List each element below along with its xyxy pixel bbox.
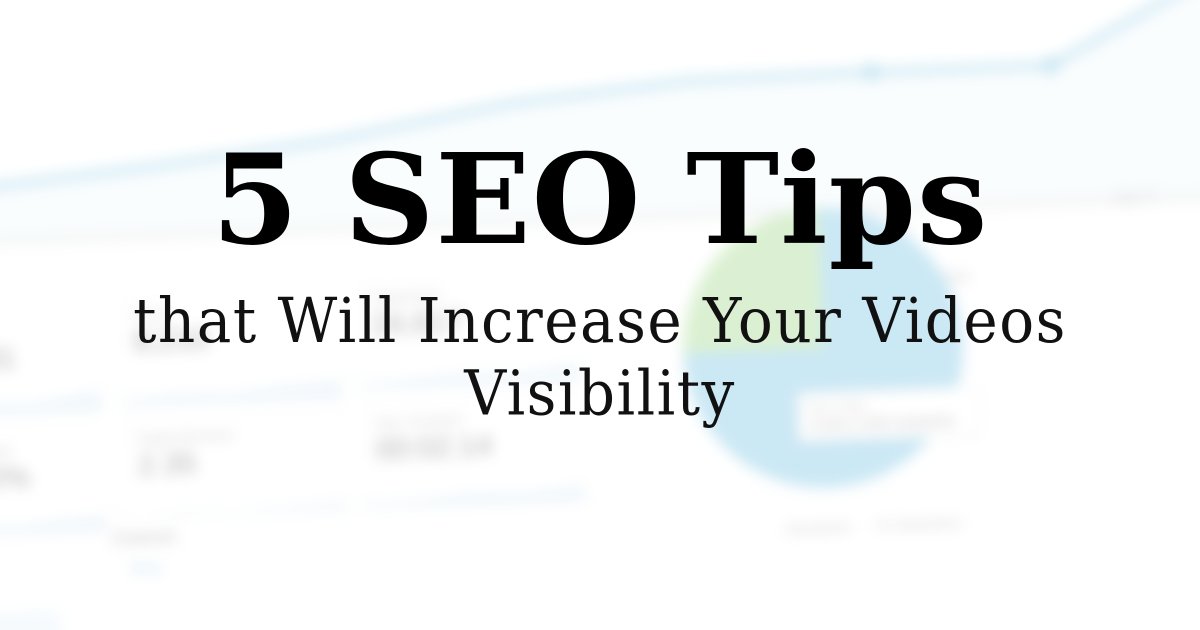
sessions-area-chart xyxy=(0,0,1200,253)
axis-tick-oct7: Oct 7 xyxy=(1114,188,1156,210)
metric-value: 8,210 xyxy=(133,318,328,359)
column-header-percent-sessions: % Sessions xyxy=(876,515,960,536)
metric-card: Users 8,210 xyxy=(119,288,343,408)
visitor-type-pie-chart: New Visitor 74.8% (7,842 sessions) xyxy=(672,197,975,500)
column-header-sessions: Sessions xyxy=(786,519,852,539)
pie-tooltip: New Visitor 74.8% (7,842 sessions) xyxy=(797,386,981,442)
metric-value: 41.82% xyxy=(0,459,93,499)
metric-card: Pageviews 24,617 xyxy=(356,271,580,391)
metric-sparkline xyxy=(123,373,342,407)
metric-card: Sessions 10,481 xyxy=(0,308,103,419)
seo-tips-banner: Oct 5 Oct 7 Returning Visitor Sessions 1… xyxy=(0,0,1200,630)
tooltip-body: 74.8% (7,842 sessions) xyxy=(808,412,970,434)
metric-card: Avg. Duration 00:02:14 xyxy=(361,396,585,512)
metric-sparkline xyxy=(0,505,106,538)
metric-card: Bounce Rate 41.82% xyxy=(0,428,107,539)
metric-value: 2.35 xyxy=(137,442,332,483)
metric-value: 24,617 xyxy=(370,301,565,342)
metric-sparkline xyxy=(0,385,102,418)
sidebar-chip xyxy=(0,610,62,630)
metric-sparkline xyxy=(360,356,579,390)
metric-value: 00:02:14 xyxy=(375,426,570,467)
metric-value: 10,481 xyxy=(0,339,89,379)
analytics-dashboard-background: Oct 5 Oct 7 Returning Visitor Sessions 1… xyxy=(0,0,1200,630)
